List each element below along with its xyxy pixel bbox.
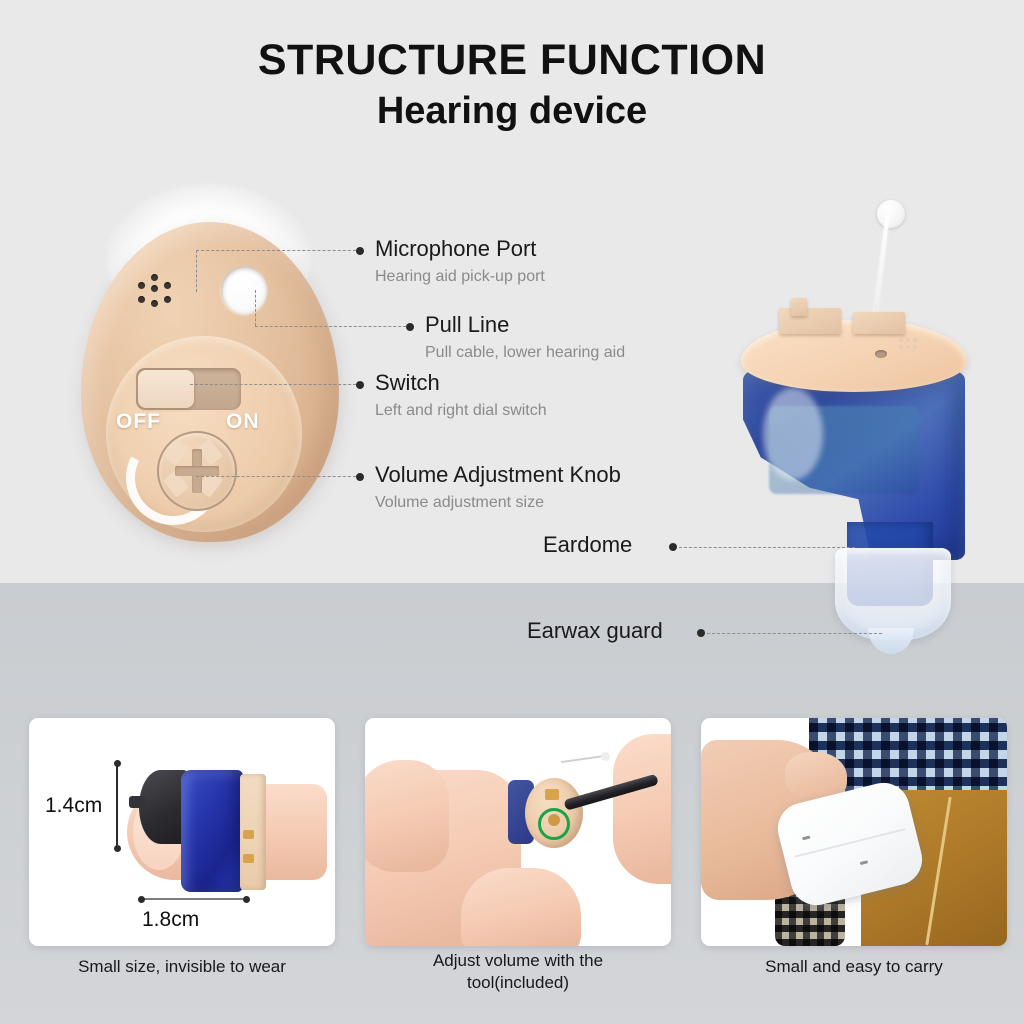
- callout-switch: Switch Left and right dial switch: [375, 372, 547, 419]
- pull-line-ball: [877, 200, 905, 228]
- callout-title: Pull Line: [425, 314, 625, 336]
- height-measure-label: 1.4cm: [45, 794, 102, 818]
- callout-volume-knob: Volume Adjustment Knob Volume adjustment…: [375, 464, 621, 511]
- callout-desc: Volume adjustment size: [375, 495, 621, 511]
- callout-title: Earwax guard: [527, 620, 663, 642]
- callout-desc: Hearing aid pick-up port: [375, 269, 545, 285]
- switch-off-label: OFF: [116, 410, 161, 434]
- leader-line-eardome: [679, 547, 855, 548]
- leader-line-earwax-guard: [707, 633, 882, 634]
- eardome-nub: [129, 796, 145, 808]
- switch-lever-block: [791, 298, 807, 316]
- case-seam: [794, 828, 905, 858]
- pull-line-ball-photo: [601, 752, 610, 761]
- battery-contact: [243, 830, 254, 839]
- feature-card-volume-tool: [365, 718, 671, 946]
- callout-pull-line: Pull Line Pull cable, lower hearing aid: [425, 314, 625, 361]
- height-measure-line: [116, 764, 118, 848]
- card-caption-2: Adjust volume with the tool(included): [365, 950, 671, 994]
- switch-housing-block: [779, 308, 841, 334]
- volume-housing-block: [853, 312, 905, 334]
- pull-line-port: [221, 266, 267, 314]
- card-caption-3: Small and easy to carry: [701, 956, 1007, 978]
- callout-microphone-port: Microphone Port Hearing aid pick-up port: [375, 238, 545, 285]
- width-measure-line: [142, 898, 246, 900]
- hearing-aid-faceplate-illustration: OFF ON: [78, 188, 344, 556]
- volume-dial-center: [548, 814, 560, 826]
- page-title: STRUCTURE FUNCTION: [258, 38, 766, 83]
- hearing-aid-3d-illustration: [735, 192, 985, 644]
- left-thumb: [365, 760, 449, 872]
- right-hand: [613, 734, 671, 884]
- callout-eardome: Eardome: [543, 534, 632, 556]
- page-subtitle: Hearing device: [377, 87, 647, 136]
- pull-line-wire-photo: [561, 755, 605, 763]
- card-caption-1: Small size, invisible to wear: [29, 956, 335, 978]
- battery-contact: [545, 789, 559, 800]
- callout-title: Eardome: [543, 534, 632, 556]
- callout-title: Microphone Port: [375, 238, 545, 260]
- feature-card-size: AUSTAR D-C-13R 1.4cm 1.8cm: [29, 718, 335, 946]
- feature-card-portability: [701, 718, 1007, 946]
- microphone-port-icon: [138, 274, 172, 308]
- power-switch[interactable]: [136, 368, 241, 410]
- eardome-part: [835, 548, 951, 640]
- lower-finger: [461, 868, 581, 946]
- device-blue-shell-photo: AUSTAR D-C-13R: [181, 770, 243, 892]
- width-measure-label: 1.8cm: [142, 908, 199, 932]
- volume-knob-slot: [175, 449, 219, 493]
- vent-dots-icon: [899, 338, 921, 350]
- callout-desc: Pull cable, lower hearing aid: [425, 345, 625, 361]
- volume-adjustment-knob[interactable]: [157, 431, 237, 511]
- callout-title: Switch: [375, 372, 547, 394]
- callout-desc: Left and right dial switch: [375, 403, 547, 419]
- callout-earwax-guard: Earwax guard: [527, 620, 663, 642]
- callout-title: Volume Adjustment Knob: [375, 464, 621, 486]
- switch-on-label: ON: [226, 410, 260, 434]
- power-switch-knob[interactable]: [138, 370, 194, 408]
- page-header: STRUCTURE FUNCTION Hearing device: [0, 0, 1024, 160]
- battery-contact: [243, 854, 254, 863]
- pull-line-anchor: [875, 350, 887, 358]
